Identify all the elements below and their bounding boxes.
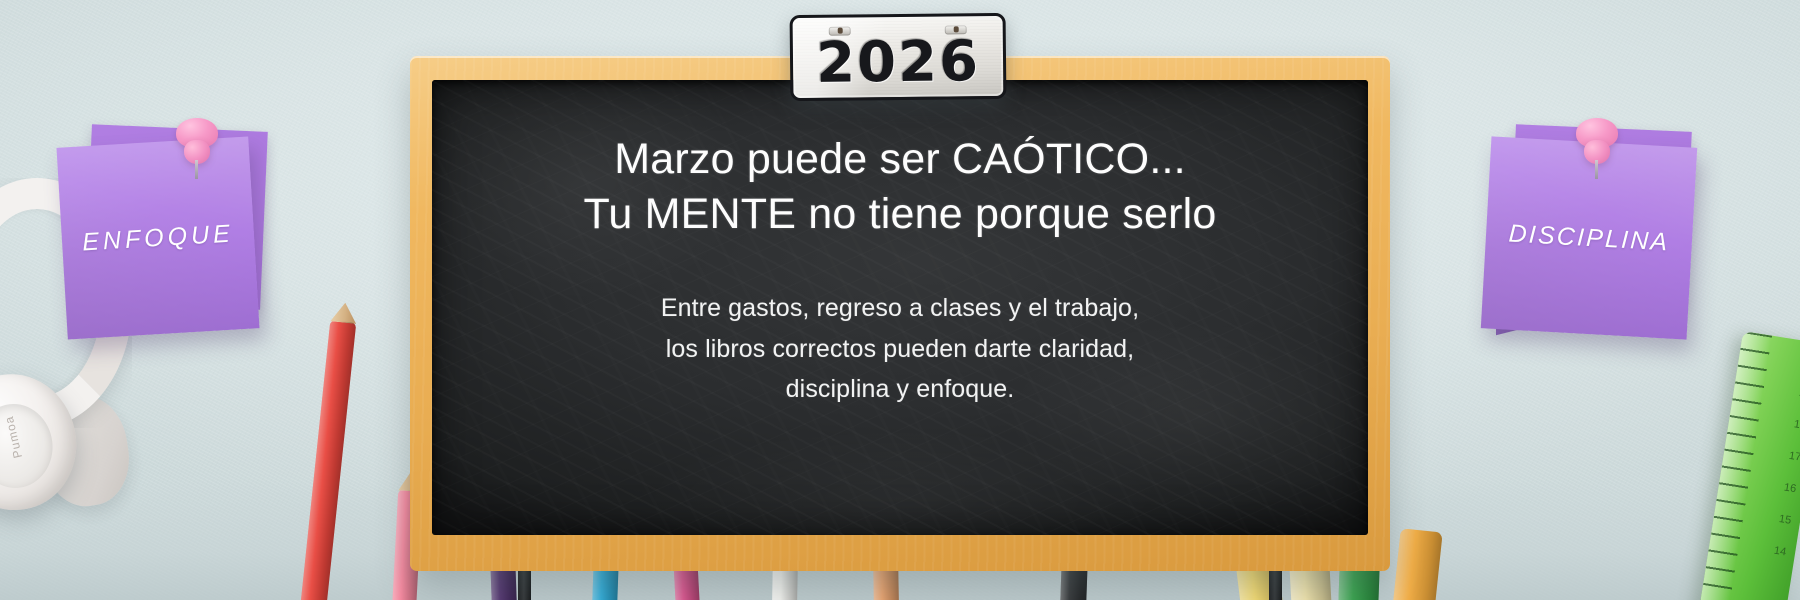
ruler-mark: 15 (1778, 513, 1792, 527)
ruler-mark: 14 (1773, 545, 1787, 559)
body-paragraph: Entre gastos, regreso a clases y el trab… (661, 288, 1139, 410)
pushpin-icon (170, 118, 224, 182)
ruler-mark: 16 (1783, 481, 1797, 495)
blackboard-text-content: Marzo puede ser CAÓTICO... Tu MENTE no t… (432, 80, 1368, 535)
marker-orange (1392, 528, 1443, 600)
blackboard-wooden-frame: Marzo puede ser CAÓTICO... Tu MENTE no t… (410, 56, 1390, 571)
page-title: Marzo puede ser CAÓTICO... Tu MENTE no t… (584, 132, 1217, 242)
sticky-note-enfoque[interactable]: ENFOQUE (62, 122, 258, 318)
ruler-mark: 18 (1793, 418, 1800, 432)
sticky-note-disciplina[interactable]: DISCIPLINA (1486, 122, 1696, 318)
sticky-note-label: DISCIPLINA (1508, 219, 1670, 257)
license-plate: 2026 (790, 13, 1007, 101)
plate-year-number: 2026 (816, 29, 981, 96)
sticky-note-front-sheet: ENFOQUE (56, 136, 259, 339)
ruler-mark: 17 (1788, 450, 1800, 464)
sticky-note-label: ENFOQUE (81, 219, 234, 257)
blackboard-slate-surface: Marzo puede ser CAÓTICO... Tu MENTE no t… (432, 80, 1368, 535)
blackboard: Marzo puede ser CAÓTICO... Tu MENTE no t… (410, 56, 1390, 571)
pushpin-icon (1570, 118, 1624, 182)
